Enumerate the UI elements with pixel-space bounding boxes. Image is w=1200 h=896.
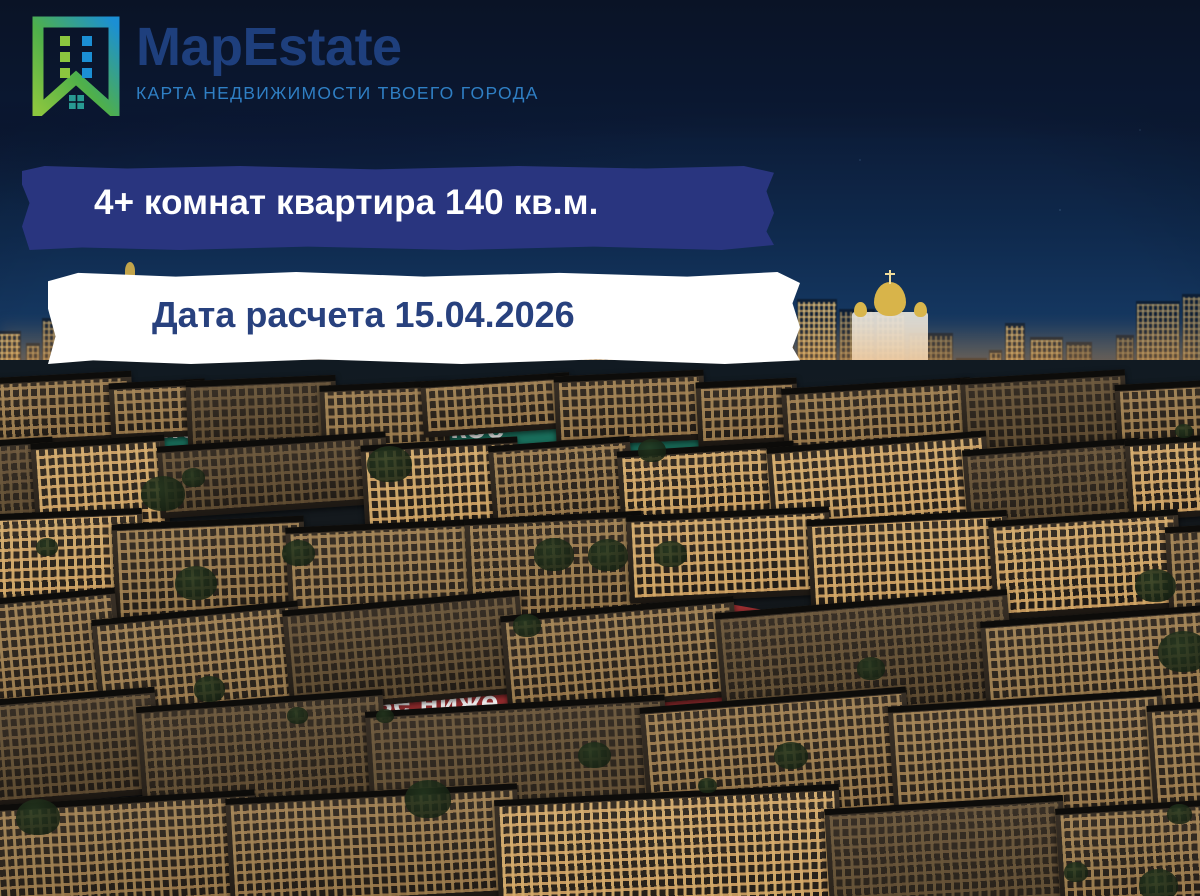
header: MapEstate КАРТА НЕДВИЖИМОСТИ ТВОЕГО ГОРО… bbox=[0, 0, 1200, 140]
brand-block: MapEstate КАРТА НЕДВИЖИМОСТИ ТВОЕГО ГОРО… bbox=[136, 16, 539, 104]
date-banner: Дата расчета 15.04.2026 bbox=[48, 272, 800, 364]
brand-tagline: КАРТА НЕДВИЖИМОСТИ ТВОЕГО ГОРОДА bbox=[136, 83, 539, 104]
bookmark-building-icon bbox=[30, 16, 122, 116]
title-text: 4+ комнат квартира 140 кв.м. bbox=[22, 166, 774, 223]
date-text: Дата расчета 15.04.2026 bbox=[48, 272, 800, 336]
poster-canvas: MapEstate КАРТА НЕДВИЖИМОСТИ ТВОЕГО ГОРО… bbox=[0, 0, 1200, 896]
brand-name: MapEstate bbox=[136, 20, 539, 74]
title-banner: 4+ комнат квартира 140 кв.м. bbox=[22, 166, 774, 250]
